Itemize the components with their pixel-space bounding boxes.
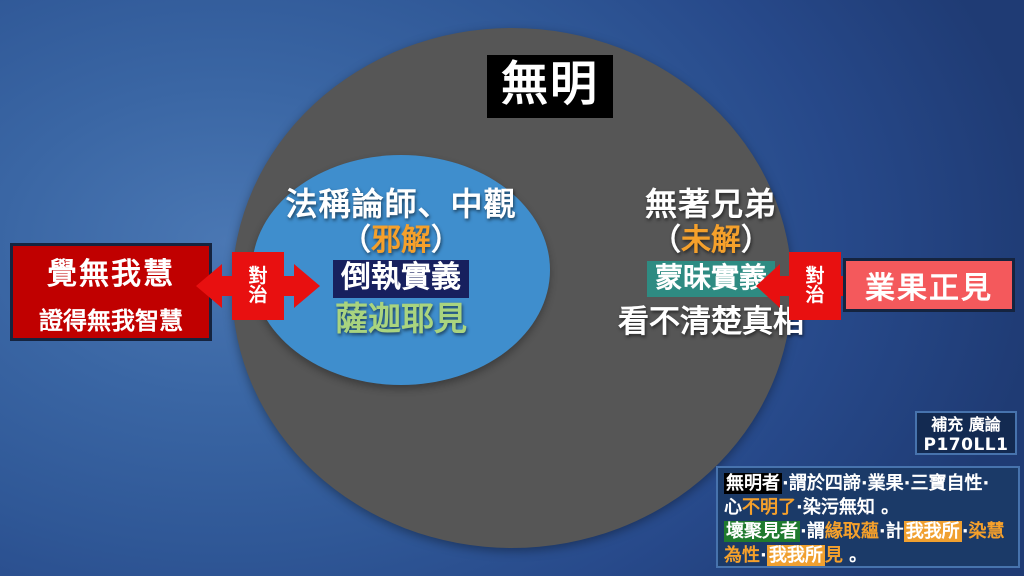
quote-run-2: 緣取蘊 <box>825 521 879 542</box>
quote-run-0: 心 <box>724 497 742 518</box>
quote-run-5: · <box>962 521 969 542</box>
quote-run-1: ·謂於四諦·業果·三寶自性· <box>782 473 989 494</box>
left-antidote-subtitle: 證得無我智慧 <box>39 301 183 336</box>
reference-page: P170LL1 <box>924 435 1009 455</box>
quote-run-2: ·染污無知 。 <box>796 497 899 518</box>
quote-line-1: 無明者·謂於四諦·業果·三寶自性· <box>724 472 1013 496</box>
not-understood-key: 未解 <box>681 223 741 258</box>
quote-box: 無明者·謂於四諦·業果·三寶自性· 心不明了·染污無知 。 壞聚見者·謂緣取蘊·… <box>716 466 1020 568</box>
reference-source: 補充 廣論 <box>931 411 1001 435</box>
right-antidote-title: 業果正見 <box>865 263 993 307</box>
slide-canvas: 無明 覺無我慧 證得無我智慧 對 治 法稱論師、中觀 （邪解） 倒執實義 薩迦耶… <box>0 0 1024 576</box>
reference-box: 補充 廣論 P170LL1 <box>915 411 1017 455</box>
quote-run-6: 染慧 <box>969 521 1005 542</box>
quote-run-0: 壞聚見者 <box>724 521 800 542</box>
quote-line-3: 壞聚見者·謂緣取蘊·計我我所·染慧 <box>724 520 1013 544</box>
wrong-understanding-key: 邪解 <box>371 223 431 258</box>
quote-run-2: 我我所 <box>767 545 825 566</box>
paren-open-right: （ <box>651 223 681 258</box>
wrong-understanding-group: 法稱論師、中觀 （邪解） 倒執實義 薩迦耶見 <box>250 186 552 337</box>
left-antidote-box: 覺無我慧 證得無我智慧 <box>10 243 212 341</box>
paren-open: （ <box>341 223 371 258</box>
paren-close: ） <box>431 223 461 258</box>
page-title: 無明 <box>487 55 613 118</box>
quote-run-1: 不明了 <box>742 497 796 518</box>
wrong-masters-label: 法稱論師、中觀 <box>250 186 552 222</box>
quote-run-1: · <box>760 545 767 566</box>
inverted-grasping-row: 倒執實義 <box>250 260 552 298</box>
inverted-grasping-label: 倒執實義 <box>333 260 469 298</box>
quote-run-3: 見 <box>825 545 843 566</box>
wrong-understanding-paren: （邪解） <box>250 224 552 258</box>
quote-run-0: 無明者 <box>724 473 782 494</box>
quote-line-2: 心不明了·染污無知 。 <box>724 496 1013 520</box>
quote-run-0: 為性 <box>724 545 760 566</box>
right-antidote-box: 業果正見 <box>843 258 1015 312</box>
quote-line-4: 為性·我我所見 。 <box>724 544 1013 568</box>
left-antidote-title: 覺無我慧 <box>47 249 175 293</box>
view-of-transitory-collection-label: 薩迦耶見 <box>250 300 552 338</box>
quote-run-4: 我我所 <box>904 521 962 542</box>
asanga-brothers-label: 無著兄弟 <box>582 186 840 222</box>
quote-run-1: ·謂 <box>800 521 825 542</box>
quote-run-4: 。 <box>843 545 867 566</box>
quote-run-3: ·計 <box>879 521 904 542</box>
